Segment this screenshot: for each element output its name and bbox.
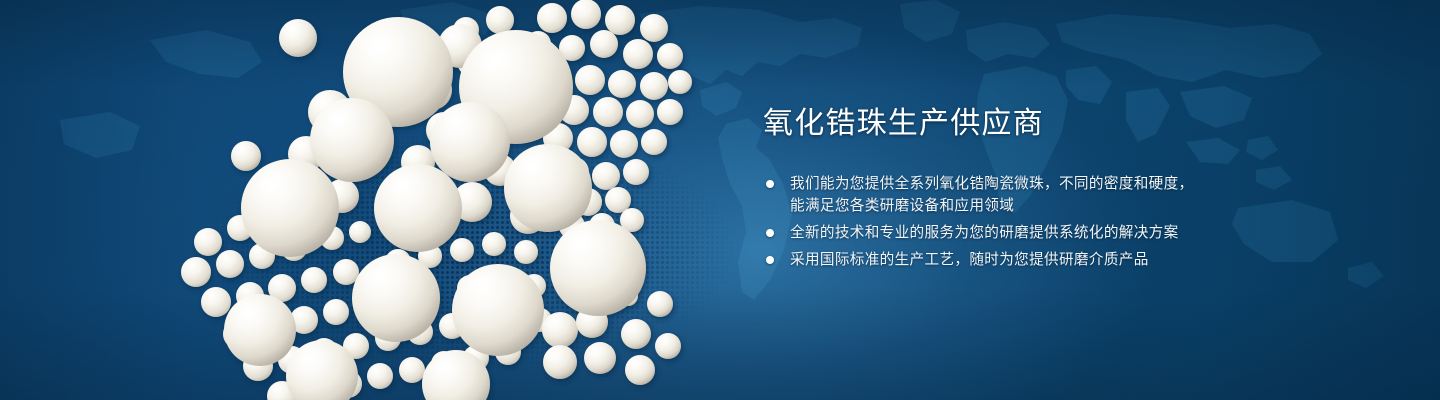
list-item-line: 我们能为您提供全系列氧化锆陶瓷微珠，不同的密度和硬度，: [790, 173, 1363, 195]
bullet-dot-icon: [766, 180, 774, 188]
list-item: 全新的技术和专业的服务为您的研磨提供系统化的解决方案: [763, 222, 1363, 244]
list-item: 采用国际标准的生产工艺，随时为您提供研磨介质产品: [763, 249, 1363, 271]
feature-list: 我们能为您提供全系列氧化锆陶瓷微珠，不同的密度和硬度， 能满足您各类研磨设备和应…: [763, 173, 1363, 271]
banner-copy: 氧化锆珠生产供应商 我们能为您提供全系列氧化锆陶瓷微珠，不同的密度和硬度， 能满…: [763, 104, 1363, 271]
list-item: 我们能为您提供全系列氧化锆陶瓷微珠，不同的密度和硬度， 能满足您各类研磨设备和应…: [763, 173, 1363, 217]
hero-banner: 氧化锆珠生产供应商 我们能为您提供全系列氧化锆陶瓷微珠，不同的密度和硬度， 能满…: [0, 0, 1440, 400]
bullet-dot-icon: [766, 256, 774, 264]
list-item-line: 全新的技术和专业的服务为您的研磨提供系统化的解决方案: [790, 222, 1363, 244]
list-item-line: 能满足您各类研磨设备和应用领域: [790, 195, 1363, 217]
page-title: 氧化锆珠生产供应商: [763, 104, 1363, 144]
list-item-line: 采用国际标准的生产工艺，随时为您提供研磨介质产品: [790, 249, 1363, 271]
bullet-dot-icon: [766, 229, 774, 237]
